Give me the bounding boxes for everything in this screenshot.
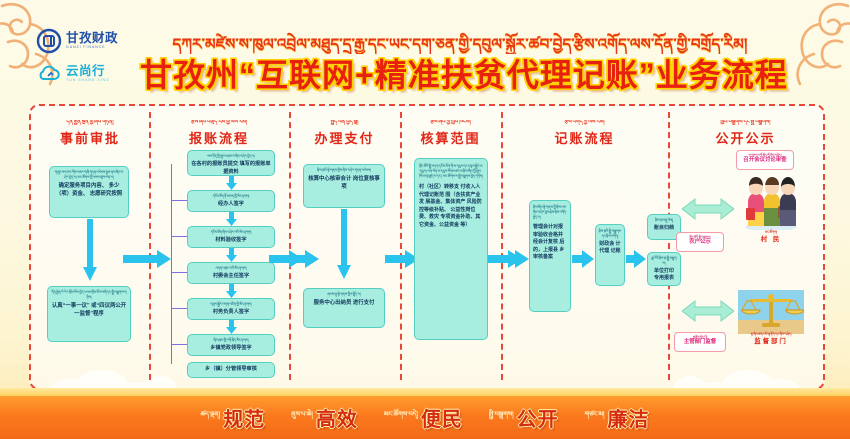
column-tibetan-label: རྩིས་ཞིབ་ཀྱི་ཁྱབ་ཁོངས། bbox=[400, 120, 501, 125]
arrow-down-r4 bbox=[226, 284, 237, 298]
node-text: 确定服务项目内容、 多少（项）资金、 志愿研究按照 bbox=[53, 182, 125, 198]
poster-root: 甘孜财政 GANZI FINANCE 云尚行 YUN SHANG XING དཀ… bbox=[0, 0, 850, 439]
callout-text: 农户公示 bbox=[680, 239, 720, 246]
scales-label: ལྟ་ཞིབ་ཚན་པའི་ལྟ་རྟོག་དང་ཞིབ་བཤེར། 监督部门 bbox=[738, 332, 804, 345]
footer-item-lianjie: གཙང་མ། 廉洁 bbox=[585, 406, 650, 430]
node-reimb-2[interactable]: དངོས་ཟོག་ཉོ་མཁན་གྱི་མིང་རྟགས། 经办人签字 bbox=[187, 190, 275, 212]
arrow-into-col5 bbox=[501, 250, 529, 268]
footer-item-gaoxiao: ནུས་པ་ཆེ། 高效 bbox=[291, 406, 358, 430]
flow-panel: དོན་རྐྱེན་སྔོན་གྱི་ཞིབ་གཏན། 事前审批 གཞུང་ལས… bbox=[29, 104, 825, 390]
label-text: 村 民 bbox=[740, 234, 802, 243]
footer-tibetan: ནུས་པ་ཆེ། bbox=[291, 406, 313, 430]
footer-tibetan: སྤྱི་བསྒྲགས། bbox=[489, 406, 514, 430]
logo-ganzi-en: GANZI FINANCE bbox=[66, 46, 118, 50]
connector-branch-4 bbox=[171, 272, 187, 273]
column-title: 事前审批 bbox=[31, 128, 149, 147]
footer-band bbox=[0, 388, 850, 396]
footer-text: 高效 bbox=[316, 410, 358, 430]
cloud-icon bbox=[36, 61, 62, 87]
logo-group: 甘孜财政 GANZI FINANCE 云尚行 YUN SHANG XING bbox=[36, 26, 141, 88]
column-header-disclosure: ཁྱབ་བསྒྲགས་དང་སྤྱི་བསྒྲགས། 公开公示 bbox=[668, 120, 823, 147]
node-text: 村委会主任签字 bbox=[191, 273, 271, 281]
label-text: 监督部门 bbox=[738, 336, 804, 345]
connector-branch-5 bbox=[171, 308, 187, 309]
node-reimb-5[interactable]: དབུལ་སྐྱོར་འགན་འཛིན་གྱི་མིང་རྟགས། 村务负责人签… bbox=[187, 298, 275, 320]
node-payment-1[interactable]: རྩིས་ཁྲའི་ལྟེ་གནས་ཀྱིས་ཞིབ་བཤེར་གཏན་འབེབ… bbox=[303, 164, 385, 208]
node-tibetan: ཞབས་ཞུ་ལྟེ་གནས་ཀྱིས་སྤྲོད་པ། bbox=[307, 292, 381, 297]
footer-tibetan: ཚད་ལྡན། bbox=[201, 406, 221, 430]
node-tibetan: དོན་རྐྱེན་རེ་རེར་གྲོས་མོལ་བྱེད་པའམ་གྲོས་… bbox=[51, 290, 127, 300]
node-tibetan: རྩིས་ཞིབ་ལྟེ་གནས་ཀྱི་རྩིས་པས་ཞིབ་བཤེར་བྱ… bbox=[533, 205, 567, 219]
node-text: 材料验收签字 bbox=[191, 237, 271, 245]
node-text: 村（社区）转移支 付收入人代理记账范 围（含扶贫产业发 展基金、集体资产 风险防… bbox=[419, 184, 483, 229]
connector-branch-2 bbox=[171, 200, 187, 201]
node-tibetan: གྲོང་ཚོའི་སྤྱི་བདག་དངོས་ཟོག་གི་མ་དངུལ་དང… bbox=[419, 164, 483, 178]
footer-tibetan: གཙང་མ། bbox=[585, 406, 605, 430]
node-text: 乡（镇）分管领导审核 bbox=[191, 366, 271, 374]
column-tibetan-label: དོན་རྐྱེན་སྔོན་གྱི་ཞིབ་གཏན། bbox=[31, 120, 149, 125]
node-tibetan: རྩིས་ཁྲའི་སྤྱི་བསྒྲགས་དང་རྩིས་འགོད། bbox=[598, 229, 622, 239]
column-title: 办理支付 bbox=[289, 128, 400, 147]
footer-text: 公开 bbox=[517, 410, 559, 430]
footer-text: 便民 bbox=[421, 410, 463, 430]
node-scope-1[interactable]: གྲོང་ཚོའི་སྤྱི་བདག་དངོས་ཟོག་གི་མ་དངུལ་དང… bbox=[414, 158, 488, 340]
column-tibetan-label: ཁྱབ་བསྒྲགས་དང་སྤྱི་བསྒྲགས། bbox=[668, 120, 823, 125]
node-text: 村务负责人签字 bbox=[191, 309, 271, 317]
node-text: 管理会计对报 审验收合格并 经会计复核 后的，上报县 乡审核备案 bbox=[533, 224, 567, 262]
logo-yunshangxing: 云尚行 YUN SHANG XING bbox=[36, 59, 141, 88]
footer-text: 廉洁 bbox=[607, 410, 649, 430]
arrow-down-r5 bbox=[226, 320, 237, 334]
logo-yun-cn: 云尚行 bbox=[66, 65, 110, 78]
column-header-pre-approval: དོན་རྐྱེན་སྔོན་གྱི་ཞིབ་གཏན། 事前审批 bbox=[31, 120, 149, 147]
node-tibetan: གཞུང་ལས་ཁང་གིས་འཆར་གཞི་གཏན་འབེབས་བྱས་ནས་… bbox=[53, 170, 125, 180]
node-text: 服务中心出纳员 进行支付 bbox=[307, 299, 381, 307]
footer-text: 规范 bbox=[223, 410, 265, 430]
column-title: 公开公示 bbox=[668, 128, 823, 147]
column-pre-approval: དོན་རྐྱེན་སྔོན་གྱི་ཞིབ་གཏན། 事前审批 གཞུང་ལས… bbox=[31, 106, 149, 388]
page-title: 甘孜州“互联网+精准扶贫代理记账”业务流程 bbox=[140, 55, 780, 95]
node-text: 在各村的报账员提交 填写的报账单据资料 bbox=[191, 161, 271, 176]
double-arrow-villagers bbox=[682, 196, 734, 222]
logo-ganzi-cn: 甘孜财政 bbox=[66, 32, 118, 45]
connector-rail bbox=[171, 164, 172, 364]
column-header-bookkeeping: རྩིས་འགོད་ཀྱི་ལས་རིམ། 记账流程 bbox=[501, 120, 668, 147]
callout-supervision[interactable]: ལྟ་རྟོག་བྱེད་པོ། 主管部门监督 bbox=[674, 332, 726, 352]
node-tibetan: དངོས་ཟོག་ཉོ་མཁན་གྱི་མིང་རྟགས། bbox=[191, 194, 271, 199]
footer-items: ཚད་ལྡན། 规范 ནུས་པ་ཆེ། 高效 མང་ཚོགས་བདེ། 便民 … bbox=[0, 396, 850, 439]
arrow-book-1-2 bbox=[572, 250, 594, 268]
villagers-illustration bbox=[740, 172, 802, 235]
node-tibetan: དབུལ་སྐྱོར་འགན་འཛིན་གྱི་མིང་རྟགས། bbox=[191, 302, 271, 307]
node-text: 财政会 计代理 记账 bbox=[598, 241, 622, 256]
arrow-down-col1 bbox=[83, 219, 97, 281]
header-tibetan-title: དཀར་མཛེས་ས་ཁུལ་འབྲེལ་མཐུད་དྲ་རྒྱ་དང་ཡང་ད… bbox=[150, 28, 770, 54]
arrow-down-r1 bbox=[226, 176, 237, 190]
node-reimb-4[interactable]: འགན་འཁུར་བའི་མིང་རྟགས། 村委会主任签字 bbox=[187, 262, 275, 284]
node-reimb-7[interactable]: 乡（镇）分管领导审核 bbox=[187, 362, 275, 378]
column-header-scope: རྩིས་ཞིབ་ཀྱི་ཁྱབ་ཁོངས། 核算范围 bbox=[400, 120, 501, 147]
arrow-down-r3 bbox=[226, 248, 237, 262]
column-title: 核算范围 bbox=[400, 128, 501, 147]
node-text: 乡镇党政领导签字 bbox=[191, 345, 271, 353]
column-tibetan-label: རྩིས་ཞིབ་བགྲོད་རིམ་གྱི་ལས་རིམ། bbox=[149, 120, 289, 125]
arrow-down-r2 bbox=[226, 212, 237, 226]
callout-villagers-meeting[interactable]: ས་གནས་འགོ་ཁྲིད་ཀྱི་ཞིབ་བཤེར། 召开会议讨论审查 bbox=[736, 150, 794, 170]
footer-tibetan: མང་ཚོགས་བདེ། bbox=[384, 406, 418, 430]
column-header-payment: སྤྲོད་ལེན་བྱེད་སྒོ། 办理支付 bbox=[289, 120, 400, 147]
double-arrow-supervision bbox=[682, 298, 734, 324]
node-payment-2[interactable]: ཞབས་ཞུ་ལྟེ་གནས་ཀྱིས་སྤྲོད་པ། 服务中心出纳员 进行支… bbox=[303, 288, 385, 328]
column-payment: སྤྲོད་ལེན་བྱེད་སྒོ། 办理支付 རྩིས་ཁྲའི་ལྟེ་ག… bbox=[289, 106, 400, 388]
logo-ganzi-finance: 甘孜财政 GANZI FINANCE bbox=[36, 26, 141, 55]
column-bookkeeping: རྩིས་འགོད་ཀྱི་ལས་རིམ། 记账流程 རྩིས་ཞིབ་ལྟེ་… bbox=[501, 106, 668, 388]
node-book-1[interactable]: རྩིས་ཞིབ་ལྟེ་གནས་ཀྱི་རྩིས་པས་ཞིབ་བཤེར་བྱ… bbox=[529, 200, 571, 312]
logo-yun-en: YUN SHANG XING bbox=[66, 79, 110, 83]
connector-branch-6 bbox=[171, 344, 187, 345]
column-header-reimbursement: རྩིས་ཞིབ་བགྲོད་རིམ་གྱི་ལས་རིམ། 报账流程 bbox=[149, 120, 289, 147]
arrow-down-col3 bbox=[337, 209, 351, 279]
column-disclosure: ཁྱབ་བསྒྲགས་དང་སྤྱི་བསྒྲགས། 公开公示 གྲོང་ཚོའ… bbox=[668, 106, 823, 388]
node-text: 认真“一事一议” 或“四议两公开 一监督”程序 bbox=[51, 302, 127, 318]
node-tibetan: ཞིང་ཁུལ་གྱི་འགོ་ཁྲིད་མིང་རྟགས། bbox=[191, 338, 271, 343]
node-text: 核算中心核审会计 岗位复核事项 bbox=[307, 175, 381, 191]
node-reimb-6[interactable]: ཞིང་ཁུལ་གྱི་འགོ་ཁྲིད་མིང་རྟགས། 乡镇党政领导签字 bbox=[187, 334, 275, 356]
column-title: 记账流程 bbox=[501, 128, 668, 147]
callout-text: 主管部门监督 bbox=[678, 339, 722, 346]
node-tibetan: དངོས་ཟོག་ཞིབ་བཤེར་བའི་མིང་རྟགས། bbox=[191, 230, 271, 235]
callout-text: 召开会议讨论审查 bbox=[740, 157, 790, 164]
arrow-book-2-3 bbox=[626, 250, 646, 268]
column-title: 报账流程 bbox=[149, 128, 289, 147]
column-tibetan-label: སྤྲོད་ལེན་བྱེད་སྒོ། bbox=[289, 120, 400, 125]
column-tibetan-label: རྩིས་འགོད་ཀྱི་ལས་རིམ། bbox=[501, 120, 668, 125]
node-tibetan: ལས་དོན་གྱི་གྲུབ་འབྲས་ལ་ཞིབ་བཤེར་བྱེད་པ། bbox=[191, 154, 271, 159]
node-reimb-1[interactable]: ལས་དོན་གྱི་གྲུབ་འབྲས་ལ་ཞིབ་བཤེར་བྱེད་པ། … bbox=[187, 150, 275, 176]
node-tibetan: རྩིས་ཁྲའི་ལྟེ་གནས་ཀྱིས་ཞིབ་བཤེར་གཏན་འབེབ… bbox=[307, 168, 381, 173]
node-tibetan: འགན་འཁུར་བའི་མིང་རྟགས། bbox=[191, 266, 271, 271]
arrow-right-col3-to-col4 bbox=[269, 250, 303, 268]
connector-branch-3 bbox=[171, 236, 187, 237]
callout-villagers-notice[interactable]: གྲོང་ཚོའི་སྤྱི་བསྒྲགས། 农户公示 bbox=[676, 232, 724, 252]
column-scope: རྩིས་ཞིབ་ཀྱི་ཁྱབ་ཁོངས། 核算范围 གྲོང་ཚོའི་སྤ… bbox=[400, 106, 501, 388]
footer-item-bianmin: མང་ཚོགས་བདེ། 便民 bbox=[384, 406, 463, 430]
ganzi-finance-icon bbox=[36, 28, 62, 54]
node-reimb-3[interactable]: དངོས་ཟོག་ཞིབ་བཤེར་བའི་མིང་རྟགས། 材料验收签字 bbox=[187, 226, 275, 248]
node-book-2[interactable]: རྩིས་ཁྲའི་སྤྱི་བསྒྲགས་དང་རྩིས་འགོད། 财政会 … bbox=[595, 224, 625, 286]
node-approval-1[interactable]: གཞུང་ལས་ཁང་གིས་འཆར་གཞི་གཏན་འབེབས་བྱས་ནས་… bbox=[49, 166, 129, 218]
column-reimbursement: རྩིས་ཞིབ་བགྲོད་རིམ་གྱི་ལས་རིམ། 报账流程 ལས་ད… bbox=[149, 106, 289, 388]
node-approval-2[interactable]: དོན་རྐྱེན་རེ་རེར་གྲོས་མོལ་བྱེད་པའམ་གྲོས་… bbox=[47, 286, 131, 342]
footer-item-guifan: ཚད་ལྡན། 规范 bbox=[201, 406, 266, 430]
footer-item-gongkai: སྤྱི་བསྒྲགས། 公开 bbox=[489, 406, 559, 430]
villagers-label: མང་ཚོགས། 村 民 bbox=[740, 230, 802, 243]
node-text: 经办人签字 bbox=[191, 201, 271, 209]
footer-bar: ཚད་ལྡན། 规范 ནུས་པ་ཆེ། 高效 མང་ཚོགས་བདེ། 便民 … bbox=[0, 396, 850, 439]
